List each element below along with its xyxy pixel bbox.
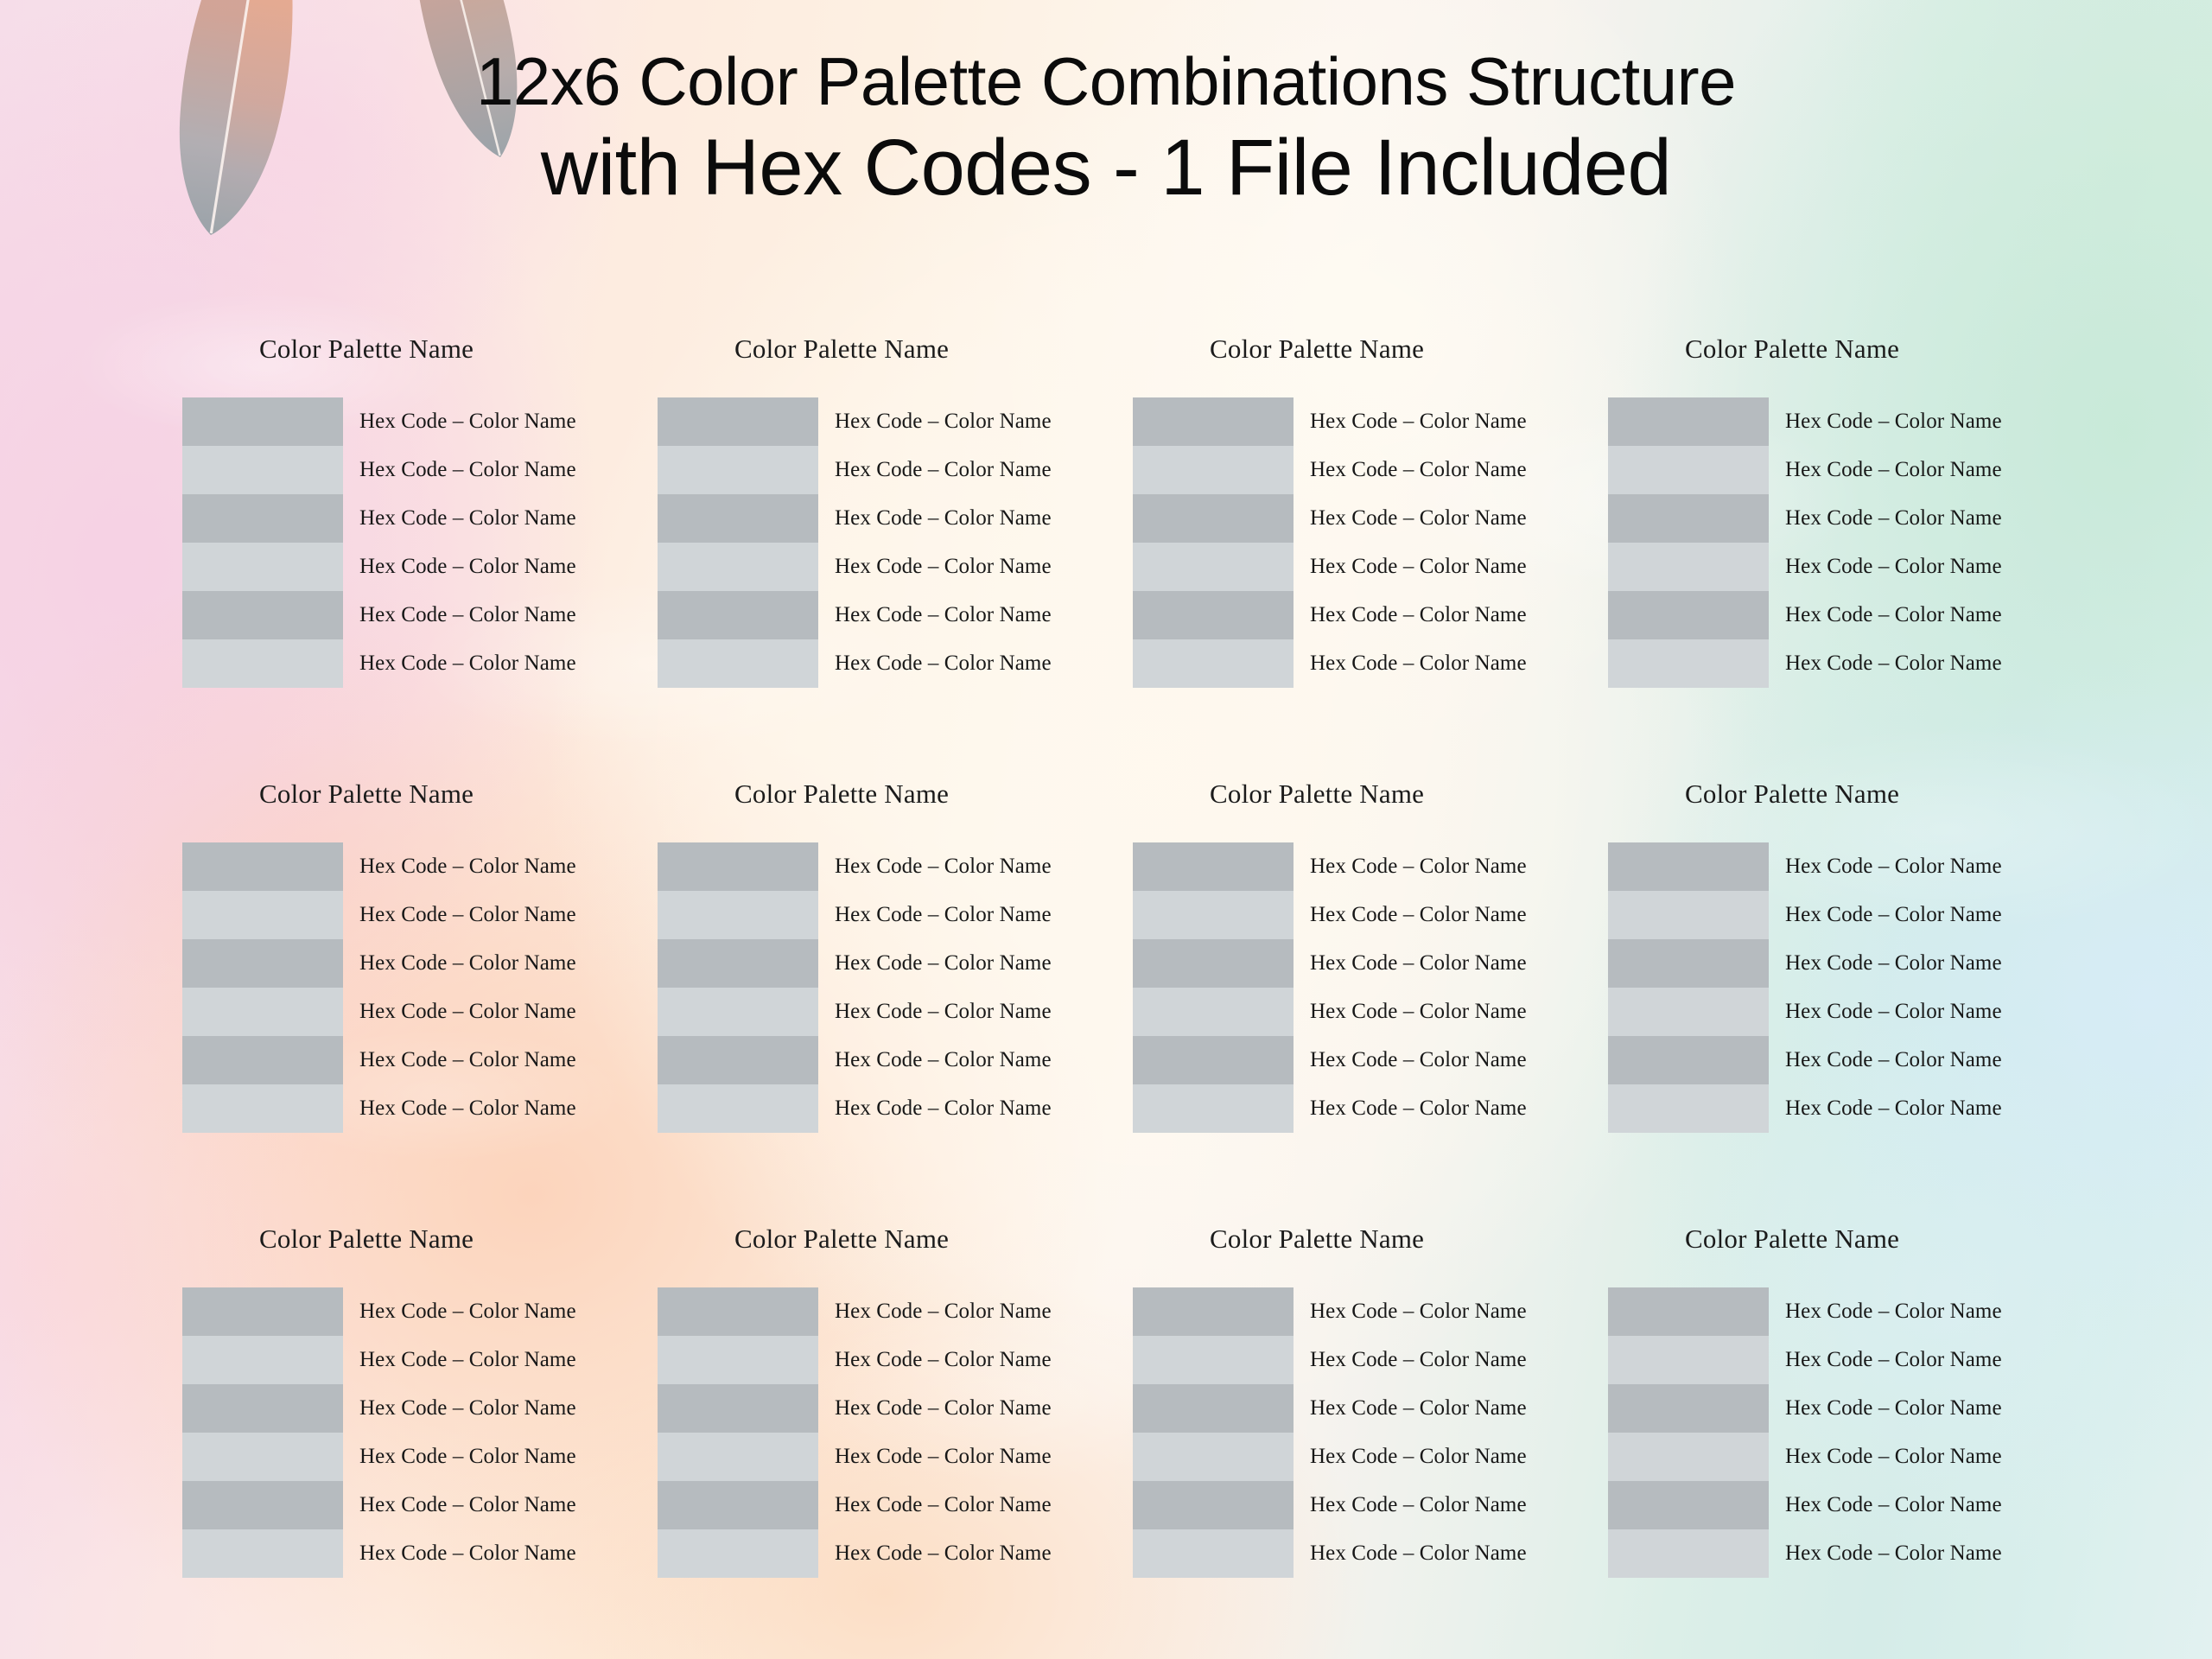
swatch-label: Hex Code – Color Name (359, 1384, 631, 1433)
swatch-label: Hex Code – Color Name (1785, 494, 2056, 543)
swatch-label: Hex Code – Color Name (1310, 939, 1581, 988)
swatch-label: Hex Code – Color Name (1785, 988, 2056, 1036)
swatch-label: Hex Code – Color Name (1785, 1287, 2056, 1336)
palette-name-heading: Color Palette Name (1106, 779, 1581, 810)
color-swatch[interactable] (1133, 543, 1294, 591)
color-swatch[interactable] (1133, 1529, 1294, 1578)
swatch-label-stack: Hex Code – Color NameHex Code – Color Na… (818, 397, 1106, 688)
swatch-label-stack: Hex Code – Color NameHex Code – Color Na… (343, 397, 631, 688)
color-swatch[interactable] (182, 1036, 343, 1084)
palette-body: Hex Code – Color NameHex Code – Color Na… (631, 397, 1106, 688)
color-swatch[interactable] (182, 1384, 343, 1433)
swatch-label: Hex Code – Color Name (1785, 1529, 2056, 1578)
color-swatch[interactable] (658, 639, 818, 688)
color-swatch[interactable] (182, 494, 343, 543)
color-swatch[interactable] (658, 1336, 818, 1384)
palette-body: Hex Code – Color NameHex Code – Color Na… (156, 1287, 631, 1578)
color-swatch[interactable] (658, 543, 818, 591)
color-swatch[interactable] (1133, 891, 1294, 939)
color-swatch[interactable] (1133, 1384, 1294, 1433)
swatch-label: Hex Code – Color Name (1785, 446, 2056, 494)
palette-card[interactable]: Color Palette NameHex Code – Color NameH… (1106, 1224, 1581, 1578)
swatch-label: Hex Code – Color Name (835, 1036, 1106, 1084)
swatch-label: Hex Code – Color Name (835, 1529, 1106, 1578)
swatch-label: Hex Code – Color Name (1310, 543, 1581, 591)
color-swatch[interactable] (1133, 494, 1294, 543)
color-swatch[interactable] (658, 1529, 818, 1578)
palette-name-heading: Color Palette Name (1581, 779, 2056, 810)
color-swatch[interactable] (1133, 1084, 1294, 1133)
swatch-label: Hex Code – Color Name (1310, 639, 1581, 688)
swatch-label: Hex Code – Color Name (835, 397, 1106, 446)
color-swatch[interactable] (1608, 1433, 1769, 1481)
color-swatch[interactable] (1133, 939, 1294, 988)
swatch-label-stack: Hex Code – Color NameHex Code – Color Na… (1769, 842, 2056, 1133)
swatch-label: Hex Code – Color Name (1785, 1481, 2056, 1529)
swatch-stack (631, 842, 818, 1133)
swatch-label: Hex Code – Color Name (359, 1529, 631, 1578)
swatch-label: Hex Code – Color Name (1785, 591, 2056, 639)
color-swatch[interactable] (1133, 1287, 1294, 1336)
swatch-label: Hex Code – Color Name (835, 494, 1106, 543)
swatch-label: Hex Code – Color Name (835, 1433, 1106, 1481)
color-swatch[interactable] (182, 842, 343, 891)
swatch-label: Hex Code – Color Name (1785, 1384, 2056, 1433)
color-swatch[interactable] (658, 891, 818, 939)
color-swatch[interactable] (182, 446, 343, 494)
swatch-label-stack: Hex Code – Color NameHex Code – Color Na… (343, 1287, 631, 1578)
palette-grid: Color Palette NameHex Code – Color NameH… (156, 334, 2056, 1578)
color-swatch[interactable] (658, 446, 818, 494)
swatch-label-stack: Hex Code – Color NameHex Code – Color Na… (1294, 397, 1581, 688)
color-swatch[interactable] (1608, 1529, 1769, 1578)
page-title: 12x6 Color Palette Combinations Structur… (0, 41, 2212, 215)
color-swatch[interactable] (658, 1036, 818, 1084)
swatch-stack (1581, 1287, 1769, 1578)
swatch-label: Hex Code – Color Name (359, 639, 631, 688)
color-swatch[interactable] (1608, 543, 1769, 591)
swatch-label: Hex Code – Color Name (835, 1384, 1106, 1433)
color-swatch[interactable] (1608, 842, 1769, 891)
swatch-label: Hex Code – Color Name (835, 1287, 1106, 1336)
swatch-label-stack: Hex Code – Color NameHex Code – Color Na… (343, 842, 631, 1133)
color-swatch[interactable] (658, 1384, 818, 1433)
swatch-label-stack: Hex Code – Color NameHex Code – Color Na… (1294, 1287, 1581, 1578)
color-swatch[interactable] (182, 1336, 343, 1384)
swatch-label: Hex Code – Color Name (1310, 1529, 1581, 1578)
swatch-label: Hex Code – Color Name (359, 1433, 631, 1481)
swatch-label: Hex Code – Color Name (359, 1036, 631, 1084)
swatch-label: Hex Code – Color Name (835, 891, 1106, 939)
color-swatch[interactable] (1608, 1084, 1769, 1133)
palette-name-heading: Color Palette Name (631, 334, 1106, 365)
swatch-label: Hex Code – Color Name (835, 842, 1106, 891)
swatch-stack (156, 1287, 343, 1578)
swatch-label: Hex Code – Color Name (835, 446, 1106, 494)
palette-body: Hex Code – Color NameHex Code – Color Na… (156, 842, 631, 1133)
color-swatch[interactable] (658, 939, 818, 988)
palette-row: Color Palette NameHex Code – Color NameH… (156, 1224, 2056, 1578)
palette-card[interactable]: Color Palette NameHex Code – Color NameH… (1581, 334, 2056, 688)
title-line-1: 12x6 Color Palette Combinations Structur… (0, 41, 2212, 121)
swatch-label: Hex Code – Color Name (835, 543, 1106, 591)
color-swatch[interactable] (658, 494, 818, 543)
palette-name-heading: Color Palette Name (156, 1224, 631, 1255)
swatch-stack (631, 1287, 818, 1578)
swatch-stack (1581, 397, 1769, 688)
color-swatch[interactable] (1133, 591, 1294, 639)
color-swatch[interactable] (182, 1481, 343, 1529)
color-swatch[interactable] (1608, 1336, 1769, 1384)
palette-card[interactable]: Color Palette NameHex Code – Color NameH… (156, 779, 631, 1133)
color-swatch[interactable] (182, 639, 343, 688)
swatch-stack (156, 842, 343, 1133)
color-swatch[interactable] (1133, 1433, 1294, 1481)
color-swatch[interactable] (658, 988, 818, 1036)
swatch-label: Hex Code – Color Name (1785, 1336, 2056, 1384)
color-swatch[interactable] (1608, 939, 1769, 988)
swatch-label: Hex Code – Color Name (359, 891, 631, 939)
color-swatch[interactable] (1608, 1481, 1769, 1529)
swatch-label-stack: Hex Code – Color NameHex Code – Color Na… (818, 842, 1106, 1133)
color-swatch[interactable] (658, 842, 818, 891)
swatch-label: Hex Code – Color Name (1310, 1481, 1581, 1529)
swatch-label: Hex Code – Color Name (1310, 397, 1581, 446)
palette-body: Hex Code – Color NameHex Code – Color Na… (156, 397, 631, 688)
swatch-label: Hex Code – Color Name (835, 1481, 1106, 1529)
swatch-label: Hex Code – Color Name (1310, 1433, 1581, 1481)
swatch-label: Hex Code – Color Name (1310, 1036, 1581, 1084)
swatch-label: Hex Code – Color Name (1785, 1036, 2056, 1084)
palette-card[interactable]: Color Palette NameHex Code – Color NameH… (631, 779, 1106, 1133)
color-swatch[interactable] (182, 1287, 343, 1336)
swatch-label: Hex Code – Color Name (1785, 1084, 2056, 1133)
palette-card[interactable]: Color Palette NameHex Code – Color NameH… (156, 1224, 631, 1578)
color-swatch[interactable] (1608, 1384, 1769, 1433)
color-swatch[interactable] (1608, 591, 1769, 639)
palette-name-heading: Color Palette Name (156, 779, 631, 810)
swatch-label: Hex Code – Color Name (835, 1336, 1106, 1384)
color-swatch[interactable] (182, 543, 343, 591)
palette-name-heading: Color Palette Name (631, 779, 1106, 810)
swatch-label: Hex Code – Color Name (359, 1084, 631, 1133)
color-swatch[interactable] (658, 1084, 818, 1133)
swatch-stack (1106, 1287, 1294, 1578)
palette-body: Hex Code – Color NameHex Code – Color Na… (1581, 1287, 2056, 1578)
swatch-label: Hex Code – Color Name (359, 939, 631, 988)
swatch-label: Hex Code – Color Name (835, 591, 1106, 639)
color-swatch[interactable] (1608, 397, 1769, 446)
swatch-label: Hex Code – Color Name (359, 543, 631, 591)
swatch-label: Hex Code – Color Name (359, 1336, 631, 1384)
color-swatch[interactable] (182, 939, 343, 988)
swatch-label: Hex Code – Color Name (1310, 446, 1581, 494)
swatch-label-stack: Hex Code – Color NameHex Code – Color Na… (818, 1287, 1106, 1578)
swatch-label: Hex Code – Color Name (1310, 1287, 1581, 1336)
palette-body: Hex Code – Color NameHex Code – Color Na… (1106, 397, 1581, 688)
color-swatch[interactable] (658, 1433, 818, 1481)
swatch-label: Hex Code – Color Name (1785, 891, 2056, 939)
palette-name-heading: Color Palette Name (156, 334, 631, 365)
swatch-label: Hex Code – Color Name (1310, 591, 1581, 639)
swatch-label: Hex Code – Color Name (835, 1084, 1106, 1133)
swatch-label: Hex Code – Color Name (359, 397, 631, 446)
swatch-label: Hex Code – Color Name (359, 446, 631, 494)
palette-name-heading: Color Palette Name (1581, 334, 2056, 365)
swatch-label: Hex Code – Color Name (1785, 543, 2056, 591)
swatch-label: Hex Code – Color Name (1785, 842, 2056, 891)
color-swatch[interactable] (1133, 446, 1294, 494)
swatch-label: Hex Code – Color Name (359, 988, 631, 1036)
color-swatch[interactable] (182, 591, 343, 639)
color-swatch[interactable] (1133, 1481, 1294, 1529)
color-swatch[interactable] (1608, 988, 1769, 1036)
palette-row: Color Palette NameHex Code – Color NameH… (156, 779, 2056, 1133)
swatch-label: Hex Code – Color Name (1785, 639, 2056, 688)
swatch-label: Hex Code – Color Name (1785, 1433, 2056, 1481)
color-swatch[interactable] (1608, 446, 1769, 494)
color-swatch[interactable] (182, 1084, 343, 1133)
title-line-2: with Hex Codes - 1 File Included (0, 121, 2212, 215)
color-swatch[interactable] (1608, 891, 1769, 939)
swatch-label: Hex Code – Color Name (1310, 494, 1581, 543)
color-swatch[interactable] (182, 397, 343, 446)
swatch-stack (156, 397, 343, 688)
swatch-label-stack: Hex Code – Color NameHex Code – Color Na… (1769, 397, 2056, 688)
palette-card[interactable]: Color Palette NameHex Code – Color NameH… (156, 334, 631, 688)
palette-body: Hex Code – Color NameHex Code – Color Na… (1106, 1287, 1581, 1578)
swatch-label-stack: Hex Code – Color NameHex Code – Color Na… (1294, 842, 1581, 1133)
swatch-label: Hex Code – Color Name (359, 494, 631, 543)
swatch-label: Hex Code – Color Name (1310, 842, 1581, 891)
swatch-label: Hex Code – Color Name (1785, 939, 2056, 988)
color-swatch[interactable] (1608, 1287, 1769, 1336)
color-swatch[interactable] (1133, 1036, 1294, 1084)
poster-canvas: 12x6 Color Palette Combinations Structur… (0, 0, 2212, 1659)
color-swatch[interactable] (1133, 639, 1294, 688)
color-swatch[interactable] (182, 1529, 343, 1578)
palette-card[interactable]: Color Palette NameHex Code – Color NameH… (631, 1224, 1106, 1578)
palette-card[interactable]: Color Palette NameHex Code – Color NameH… (1106, 334, 1581, 688)
palette-row: Color Palette NameHex Code – Color NameH… (156, 334, 2056, 688)
palette-body: Hex Code – Color NameHex Code – Color Na… (1106, 842, 1581, 1133)
swatch-label: Hex Code – Color Name (1310, 1336, 1581, 1384)
palette-name-heading: Color Palette Name (1581, 1224, 2056, 1255)
swatch-label: Hex Code – Color Name (1310, 1384, 1581, 1433)
palette-card[interactable]: Color Palette NameHex Code – Color NameH… (631, 334, 1106, 688)
color-swatch[interactable] (658, 397, 818, 446)
palette-body: Hex Code – Color NameHex Code – Color Na… (1581, 842, 2056, 1133)
color-swatch[interactable] (1608, 494, 1769, 543)
color-swatch[interactable] (1133, 988, 1294, 1036)
palette-card[interactable]: Color Palette NameHex Code – Color NameH… (1581, 779, 2056, 1133)
color-swatch[interactable] (182, 1433, 343, 1481)
color-swatch[interactable] (1133, 842, 1294, 891)
palette-body: Hex Code – Color NameHex Code – Color Na… (631, 1287, 1106, 1578)
palette-name-heading: Color Palette Name (1106, 1224, 1581, 1255)
palette-body: Hex Code – Color NameHex Code – Color Na… (631, 842, 1106, 1133)
swatch-label: Hex Code – Color Name (359, 842, 631, 891)
swatch-label: Hex Code – Color Name (359, 591, 631, 639)
swatch-label: Hex Code – Color Name (835, 988, 1106, 1036)
color-swatch[interactable] (1608, 1036, 1769, 1084)
color-swatch[interactable] (658, 1287, 818, 1336)
swatch-stack (631, 397, 818, 688)
swatch-stack (1581, 842, 1769, 1133)
palette-card[interactable]: Color Palette NameHex Code – Color NameH… (1581, 1224, 2056, 1578)
color-swatch[interactable] (182, 891, 343, 939)
color-swatch[interactable] (1133, 1336, 1294, 1384)
swatch-label: Hex Code – Color Name (1310, 1084, 1581, 1133)
swatch-label: Hex Code – Color Name (1310, 988, 1581, 1036)
color-swatch[interactable] (1608, 639, 1769, 688)
palette-body: Hex Code – Color NameHex Code – Color Na… (1581, 397, 2056, 688)
color-swatch[interactable] (658, 1481, 818, 1529)
swatch-label: Hex Code – Color Name (1785, 397, 2056, 446)
swatch-label: Hex Code – Color Name (359, 1287, 631, 1336)
palette-name-heading: Color Palette Name (1106, 334, 1581, 365)
swatch-stack (1106, 842, 1294, 1133)
palette-card[interactable]: Color Palette NameHex Code – Color NameH… (1106, 779, 1581, 1133)
swatch-label: Hex Code – Color Name (359, 1481, 631, 1529)
color-swatch[interactable] (182, 988, 343, 1036)
swatch-label-stack: Hex Code – Color NameHex Code – Color Na… (1769, 1287, 2056, 1578)
color-swatch[interactable] (658, 591, 818, 639)
palette-name-heading: Color Palette Name (631, 1224, 1106, 1255)
swatch-label: Hex Code – Color Name (835, 939, 1106, 988)
swatch-label: Hex Code – Color Name (835, 639, 1106, 688)
color-swatch[interactable] (1133, 397, 1294, 446)
swatch-stack (1106, 397, 1294, 688)
swatch-label: Hex Code – Color Name (1310, 891, 1581, 939)
